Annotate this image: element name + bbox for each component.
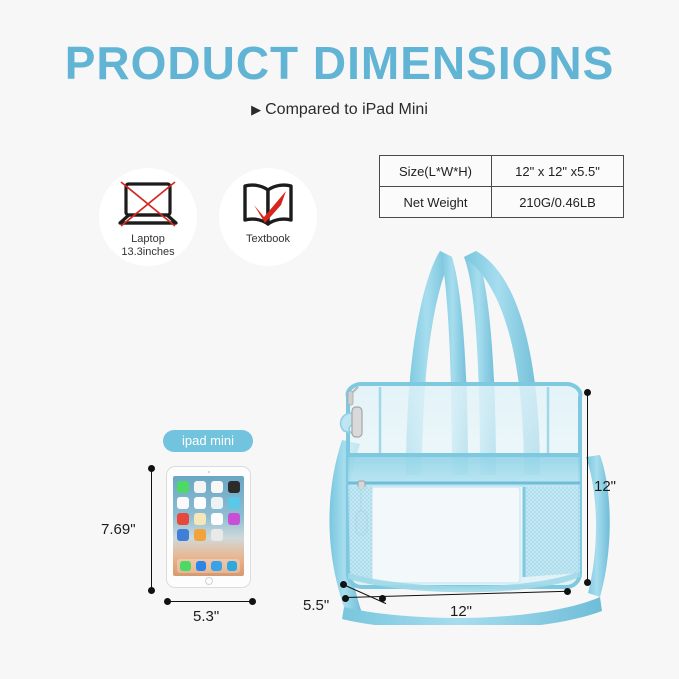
app-icon <box>194 481 206 493</box>
ipad-screen <box>173 476 244 576</box>
spec-table: Size(L*W*H) 12" x 12" x5.5" Net Weight 2… <box>379 155 624 218</box>
metal-swivel-hook-icon <box>352 407 362 437</box>
infographic-canvas: PRODUCT DIMENSIONS ▶Compared to iPad Min… <box>0 0 679 679</box>
mesh-pocket-right <box>524 487 580 577</box>
bag-height-label: 12" <box>594 478 616 495</box>
subtitle-text: Compared to iPad Mini <box>265 101 428 118</box>
spec-key: Net Weight <box>380 187 492 218</box>
spec-key: Size(L*W*H) <box>380 156 492 187</box>
ipad-mini-device <box>166 466 251 588</box>
app-icon <box>211 529 223 541</box>
textbook-caption: Textbook <box>246 233 290 246</box>
top-zipper-pull <box>348 391 353 405</box>
dimension-dot <box>342 595 349 602</box>
app-icon <box>228 481 240 493</box>
ipad-dock <box>177 559 240 574</box>
dock-icon <box>180 561 191 572</box>
app-icon <box>177 513 189 525</box>
app-icon <box>228 497 240 509</box>
app-icon <box>211 513 223 525</box>
bag-depth-label: 5.5" <box>303 597 329 614</box>
app-icon <box>211 497 223 509</box>
laptop-caption: Laptop 13.3inches <box>121 233 174 259</box>
shoulder-strap-right <box>586 455 610 597</box>
ipad-height-dimension-line <box>151 468 152 590</box>
camera-icon <box>208 471 210 473</box>
app-icon <box>177 529 189 541</box>
dimension-dot <box>564 588 571 595</box>
ipad-mini-badge: ipad mini <box>163 430 253 452</box>
dock-icon <box>227 561 238 572</box>
spec-value: 210G/0.46LB <box>492 187 624 218</box>
dimension-dot <box>379 595 386 602</box>
laptop-badge: Laptop 13.3inches <box>99 168 197 266</box>
app-icon <box>211 481 223 493</box>
app-icon <box>194 513 206 525</box>
app-grid <box>177 481 240 541</box>
bag-height-dimension-line <box>587 392 588 582</box>
home-button-icon <box>205 577 213 585</box>
front-clear-window <box>372 487 520 583</box>
laptop-crossed-out-icon <box>117 181 179 229</box>
table-row: Size(L*W*H) 12" x 12" x5.5" <box>380 156 624 187</box>
dimension-dot <box>584 579 591 586</box>
clear-tote-bag-image <box>300 225 630 625</box>
page-title: PRODUCT DIMENSIONS <box>0 36 679 90</box>
bag-width-label: 12" <box>450 603 472 620</box>
app-icon <box>177 497 189 509</box>
dimension-dot <box>164 598 171 605</box>
triangle-marker-icon: ▶ <box>251 102 261 117</box>
ipad-width-label: 5.3" <box>193 608 219 625</box>
app-icon <box>194 497 206 509</box>
mesh-pocket-left <box>348 487 372 583</box>
dock-icon <box>196 561 207 572</box>
app-icon <box>194 529 206 541</box>
spec-value: 12" x 12" x5.5" <box>492 156 624 187</box>
dimension-dot <box>148 587 155 594</box>
dimension-dot <box>148 465 155 472</box>
table-row: Net Weight 210G/0.46LB <box>380 187 624 218</box>
ipad-width-dimension-line <box>168 601 253 602</box>
app-icon <box>177 481 189 493</box>
page-subtitle: ▶Compared to iPad Mini <box>0 101 679 119</box>
app-icon <box>228 513 240 525</box>
dimension-dot <box>249 598 256 605</box>
dimension-dot <box>340 581 347 588</box>
dimension-dot <box>584 389 591 396</box>
open-book-check-icon <box>237 181 299 229</box>
ipad-height-label: 7.69" <box>101 521 136 538</box>
dock-icon <box>211 561 222 572</box>
app-icon <box>228 529 240 541</box>
